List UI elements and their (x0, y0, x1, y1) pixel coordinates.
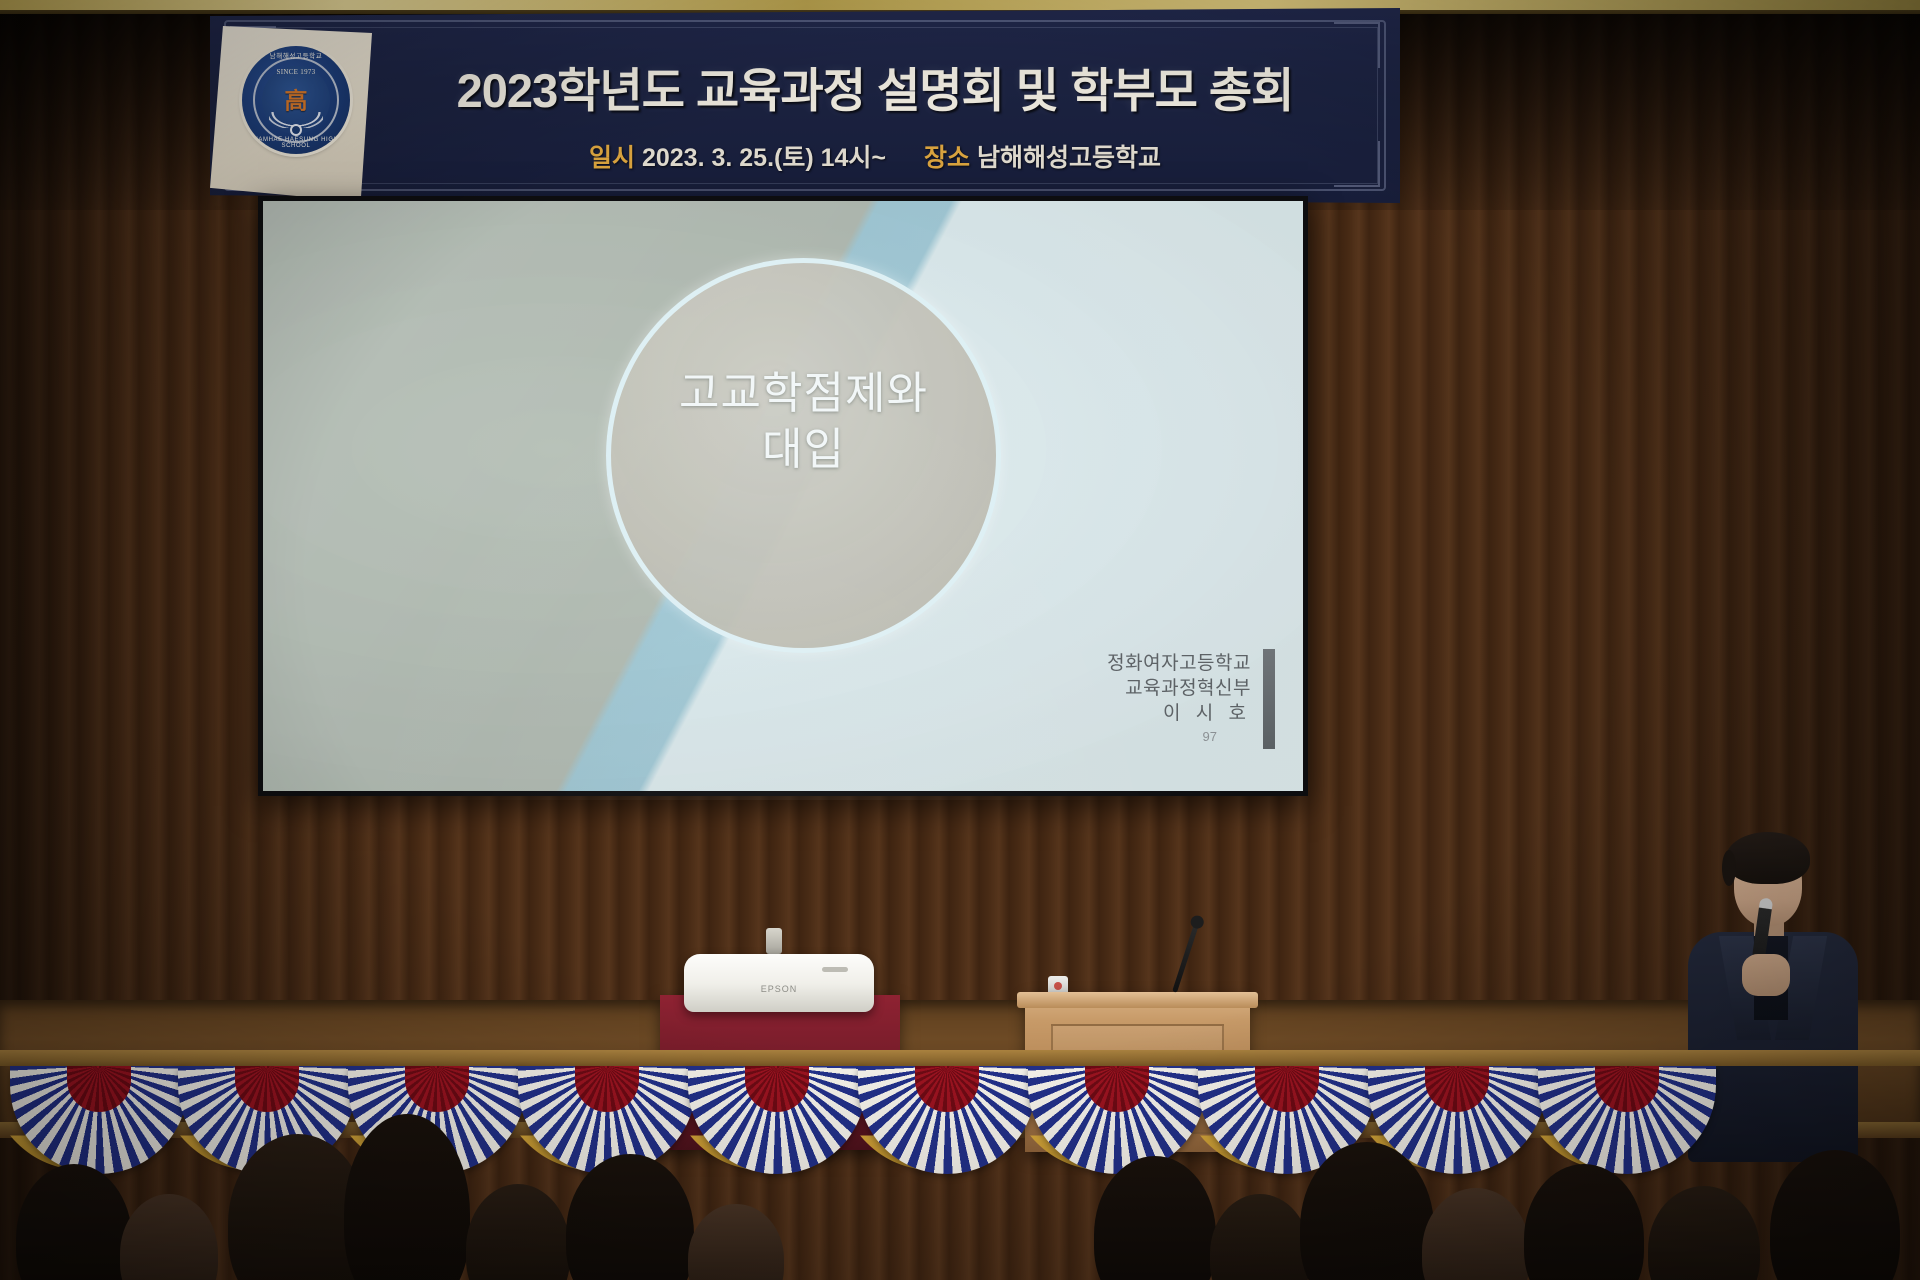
audience-head (1094, 1156, 1216, 1280)
slide-credit-bar (1263, 649, 1275, 749)
audience-head (344, 1114, 470, 1280)
presentation-slide: 고교학점제와 대입 정화여자고등학교 교육과정혁신부 이 시 호 97 (263, 201, 1303, 791)
emblem-korean-name: 남해해성고등학교 (242, 50, 350, 60)
banner-place-value: 남해해성고등학교 (977, 144, 1161, 172)
auditorium-scene: 남해해성고등학교 SINCE 1973 高 NAMHAE HAESUNG HIG… (0, 0, 1920, 1280)
audience-head (1770, 1150, 1900, 1280)
podium-top (1017, 992, 1258, 1008)
slide-title-line-1: 고교학점제와 (606, 366, 1001, 422)
presenter-hair (1726, 832, 1810, 884)
banner-date-label: 일시 (589, 144, 635, 172)
emblem-english-name: NAMHAE HAESUNG HIGH SCHOOL (242, 137, 350, 149)
audience-head (1648, 1186, 1760, 1280)
presenter-hands (1742, 954, 1790, 996)
audience-head (1210, 1194, 1310, 1280)
bunting-rail (0, 1050, 1920, 1066)
audience-head (16, 1164, 132, 1280)
banner-date-value: 2023. 3. 25.(토) 14시~ (642, 144, 886, 172)
projector: EPSON (684, 954, 874, 1012)
banner-subtitle: 일시2023. 3. 25.(토) 14시~장소남해해성고등학교 (390, 138, 1360, 174)
emblem-since-text: SINCE 1973 (242, 68, 350, 76)
slide-title: 고교학점제와 대입 (606, 366, 1001, 479)
event-banner: 남해해성고등학교 SINCE 1973 高 NAMHAE HAESUNG HIG… (210, 8, 1400, 203)
slide-credit-presenter: 이 시 호 (1107, 701, 1251, 726)
banner-place-label: 장소 (924, 144, 970, 172)
audience (0, 1090, 1920, 1280)
emblem-center-dot (290, 124, 302, 136)
slide-number: 97 (1107, 728, 1217, 745)
slide-title-line-2: 대입 (606, 422, 1001, 478)
audience-head (566, 1154, 694, 1280)
audience-head (688, 1204, 784, 1280)
projection-screen: 고교학점제와 대입 정화여자고등학교 교육과정혁신부 이 시 호 97 (258, 196, 1308, 796)
audience-head (466, 1184, 570, 1280)
audience-head (120, 1194, 218, 1280)
projector-brand-label: EPSON (684, 984, 874, 994)
school-emblem-icon: 남해해성고등학교 SINCE 1973 高 NAMHAE HAESUNG HIG… (242, 46, 350, 154)
slide-credit-department: 교육과정혁신부 (1107, 676, 1251, 701)
audience-head (1422, 1188, 1530, 1280)
emblem-glyph: 高 (285, 90, 308, 113)
projector-vent (822, 967, 848, 972)
projector-lens (766, 928, 782, 954)
slide-credit-school: 정화여자고등학교 (1107, 651, 1251, 676)
slide-credit: 정화여자고등학교 교육과정혁신부 이 시 호 97 (1107, 651, 1251, 745)
banner-title: 2023학년도 교육과정 설명회 및 학부모 총회 (390, 52, 1360, 121)
audience-head (1524, 1164, 1644, 1280)
audience-head (1300, 1142, 1434, 1280)
